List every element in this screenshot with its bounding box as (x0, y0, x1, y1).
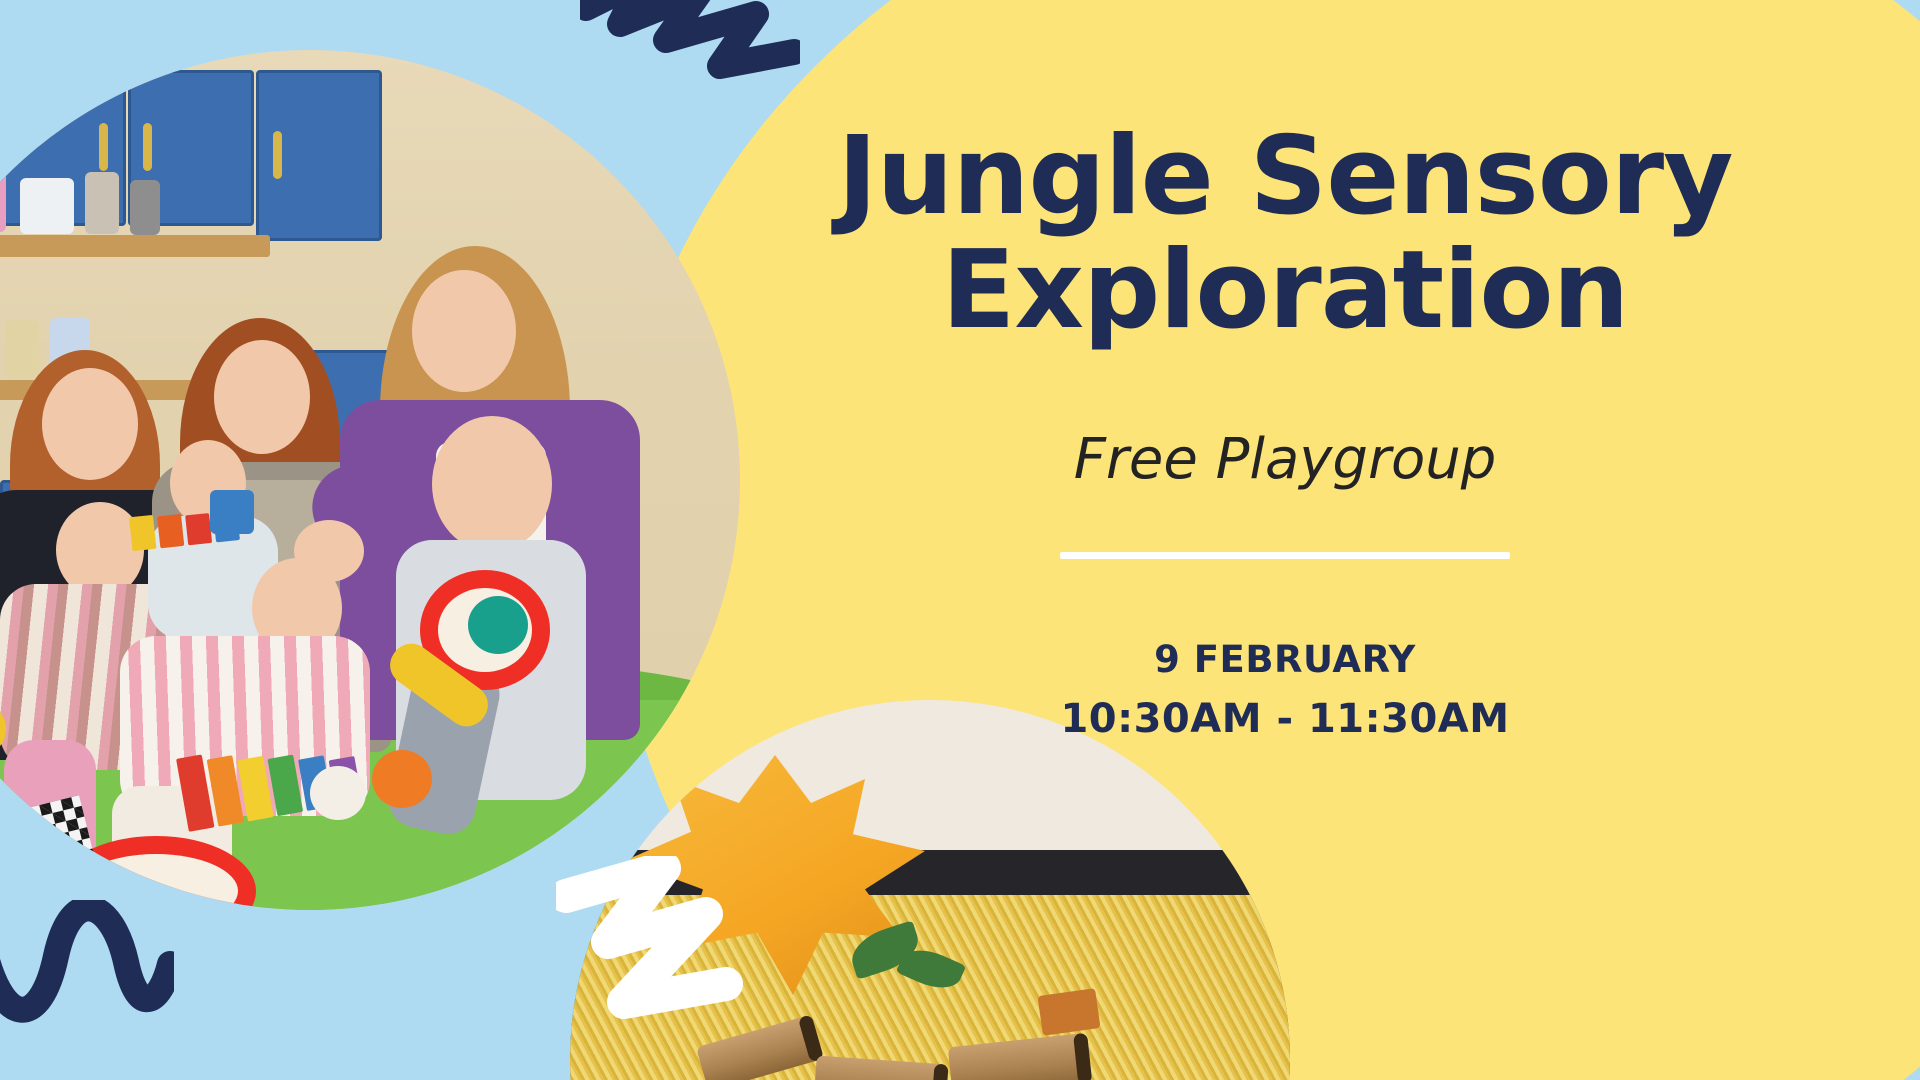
divider-line (1060, 552, 1510, 559)
event-details: 9 FEBRUARY 10:30AM - 11:30AM (770, 631, 1800, 750)
event-date: 9 FEBRUARY (770, 631, 1800, 688)
blue-block-toy (210, 490, 254, 534)
grey-jar (85, 172, 119, 234)
zigzag-squiggle-white-icon (556, 856, 746, 1026)
cream-jar (5, 320, 39, 378)
white-ball-toy (310, 766, 366, 820)
wave-squiggle-bottom-left-icon (0, 900, 174, 1050)
pink-jar (0, 170, 6, 232)
tambourine-centre (468, 596, 528, 654)
poster-canvas: Jungle Sensory Exploration Free Playgrou… (0, 0, 1920, 1080)
event-time: 10:30AM - 11:30AM (770, 688, 1800, 750)
toy-animal (1037, 988, 1100, 1036)
cabinet-door (256, 70, 382, 241)
subtitle: Free Playgroup (770, 427, 1800, 492)
wooden-shelf (0, 235, 270, 257)
utensil-pot (130, 180, 160, 235)
poster-text-block: Jungle Sensory Exploration Free Playgrou… (770, 120, 1800, 750)
white-box (20, 178, 74, 234)
zigzag-squiggle-top-icon (580, 0, 800, 84)
orange-ball-toy (372, 750, 432, 808)
page-title: Jungle Sensory Exploration (770, 120, 1800, 349)
